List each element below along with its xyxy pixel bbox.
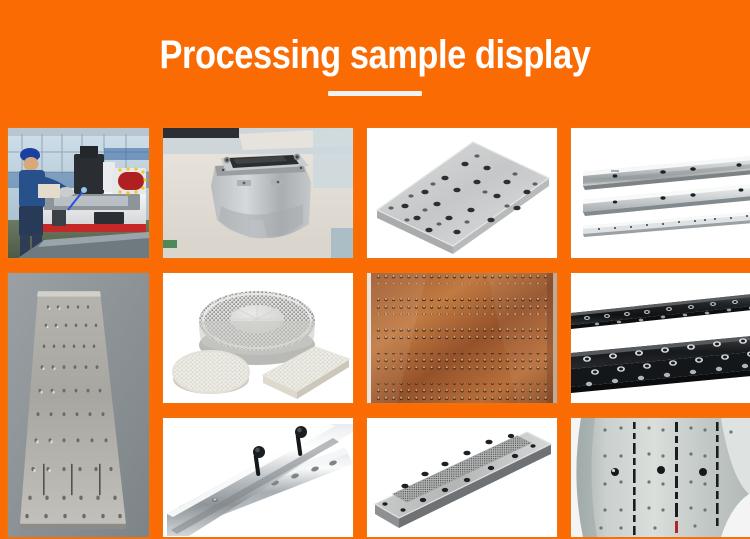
black-drilled-strips-photo bbox=[571, 273, 750, 403]
gallery-item-cast-aluminum-housing[interactable]: Machined cast aluminum housing on workbe… bbox=[161, 126, 355, 260]
gallery-item-ceramic-perforated-discs[interactable]: Perforated discs and honeycomb ceramic b… bbox=[161, 271, 355, 405]
curved-steel-panel-photo bbox=[571, 418, 750, 537]
micro-hole-array-bar-photo bbox=[367, 418, 557, 537]
copper-perforated-sheet-photo bbox=[367, 273, 557, 403]
cnc-operator-photo bbox=[8, 128, 149, 258]
cast-aluminum-housing-photo bbox=[163, 128, 353, 258]
gallery-item-copper-perforated-sheet[interactable]: Copper sheet with rows of micro holes bbox=[365, 271, 559, 405]
gallery-item-cnc-operator[interactable]: Worker operating CNC drilling machine in… bbox=[6, 126, 151, 260]
gallery-item-perforated-large-plate[interactable]: Large aluminum plate with grid of drille… bbox=[6, 271, 151, 539]
title-divider bbox=[328, 91, 422, 96]
sample-gallery: Worker operating CNC drilling machine in… bbox=[6, 126, 744, 539]
gallery-item-black-drilled-strips[interactable]: Black anodized strips with countersunk h… bbox=[569, 271, 750, 405]
ceramic-perforated-discs-photo bbox=[163, 273, 353, 403]
aluminum-rails-photo bbox=[571, 128, 750, 258]
page-header: Processing sample display bbox=[0, 0, 750, 126]
gallery-item-aluminum-rails[interactable]: Three aluminum extruded rails with drill… bbox=[569, 126, 750, 260]
gallery-item-micro-hole-array-bar[interactable]: Steel bar with dense micro-hole array an… bbox=[365, 416, 559, 539]
gallery-item-curved-steel-panel[interactable]: Curved stainless panel with slot and hol… bbox=[569, 416, 750, 539]
gallery-item-chrome-drilled-shafts[interactable]: Chrome cylindrical shafts with black noz… bbox=[161, 416, 355, 539]
aluminum-drilled-plate-photo bbox=[367, 128, 557, 258]
gallery-item-aluminum-drilled-plate[interactable]: Aluminum plate with countersunk hole pat… bbox=[365, 126, 559, 260]
page-root: Processing sample display bbox=[0, 0, 750, 539]
chrome-drilled-shafts-photo bbox=[163, 418, 353, 537]
page-title: Processing sample display bbox=[53, 30, 698, 80]
perforated-large-plate-photo bbox=[8, 273, 149, 537]
